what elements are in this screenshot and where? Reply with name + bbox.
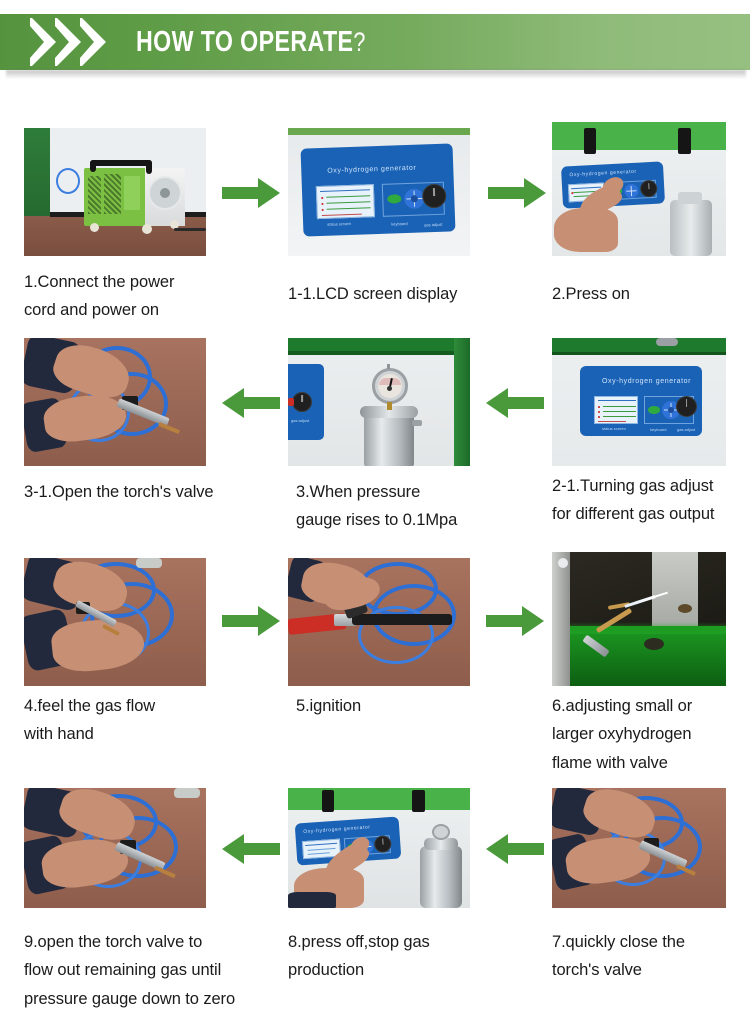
press-on-button-photo: Oxy-hydrogen generator [552, 122, 726, 256]
pressure-gauge-photo: gas adjust [288, 338, 470, 466]
open-torch-valve-release-photo [24, 788, 206, 908]
arrow-right-icon [488, 178, 546, 213]
step-caption: 1.Connect the power cord and power on [24, 268, 224, 325]
control-panel-lcd-photo: Oxy-hydrogen generator [288, 128, 470, 256]
gas-adjust-knob-photo: Oxy-hydrogen generator [552, 338, 726, 466]
step-caption: 4.feel the gas flow with hand [24, 692, 224, 749]
step-caption: 7.quickly close the torch's valve [552, 928, 750, 985]
press-off-button-photo: Oxy-hydrogen generator [288, 788, 470, 908]
arrow-right-icon [486, 606, 544, 641]
arrow-right-icon [222, 606, 280, 641]
close-torch-valve-photo [552, 788, 726, 908]
arrow-left-icon [486, 834, 544, 869]
step-caption: 6.adjusting small or larger oxyhydrogen … [552, 692, 750, 777]
step-caption: 9.open the torch valve to flow out remai… [24, 928, 274, 1013]
step-caption: 8.press off,stop gas production [288, 928, 498, 985]
feel-gas-flow-photo [24, 558, 206, 686]
step-caption: 3-1.Open the torch's valve [24, 478, 244, 506]
step-caption: 2.Press on [552, 280, 742, 308]
arrow-left-icon [222, 388, 280, 423]
step-caption: 2-1.Turning gas adjust for different gas… [552, 472, 750, 529]
ignition-photo [288, 558, 470, 686]
step-caption: 3.When pressure gauge rises to 0.1Mpa [296, 478, 506, 535]
arrow-right-icon [222, 178, 280, 213]
open-torch-valve-photo [24, 338, 206, 466]
step-caption: 5.ignition [296, 692, 496, 720]
steps-grid: 1.Connect the power cord and power on Ox… [0, 0, 750, 1027]
arrow-left-icon [486, 388, 544, 423]
step-caption: 1-1.LCD screen display [288, 280, 498, 308]
adjust-flame-photo [552, 552, 726, 686]
how-to-operate-infographic: HOW TO OPERATE? [0, 0, 750, 1027]
arrow-left-icon [222, 834, 280, 869]
generator-machine-photo [24, 128, 206, 256]
